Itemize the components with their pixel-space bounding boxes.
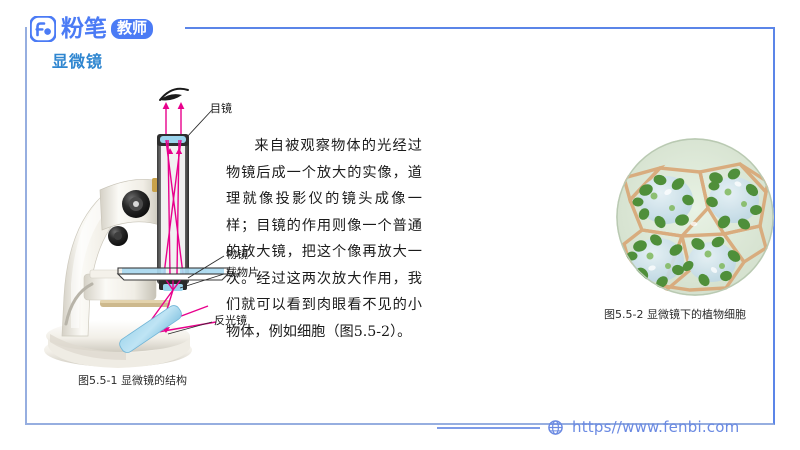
footer: https//www.fenbi.com [0, 416, 800, 444]
footer-url[interactable]: https//www.fenbi.com [572, 418, 739, 436]
footer-divider [437, 427, 540, 429]
text-wrap-spacer [422, 133, 608, 305]
body-paragraph: 来自被观察物体的光经过物镜后成一个放大的实像，道理就像投影仪的镜头成像一样；目镜… [226, 133, 608, 345]
label-eyepiece: 目镜 [210, 100, 232, 116]
globe-icon [548, 420, 563, 435]
page-title: 显微镜 [52, 48, 103, 72]
figure-left-caption: 图5.5-1 显微镜的结构 [78, 372, 187, 388]
slide-root: 粉笔 教师 显微镜 [0, 0, 800, 450]
body-text: 来自被观察物体的光经过物镜后成一个放大的实像，道理就像投影仪的镜头成像一样；目镜… [226, 138, 422, 340]
plant-cells-micrograph [616, 138, 774, 296]
figure-right-caption: 图5.5-2 显微镜下的植物细胞 [604, 306, 746, 322]
eye-icon [160, 89, 188, 101]
